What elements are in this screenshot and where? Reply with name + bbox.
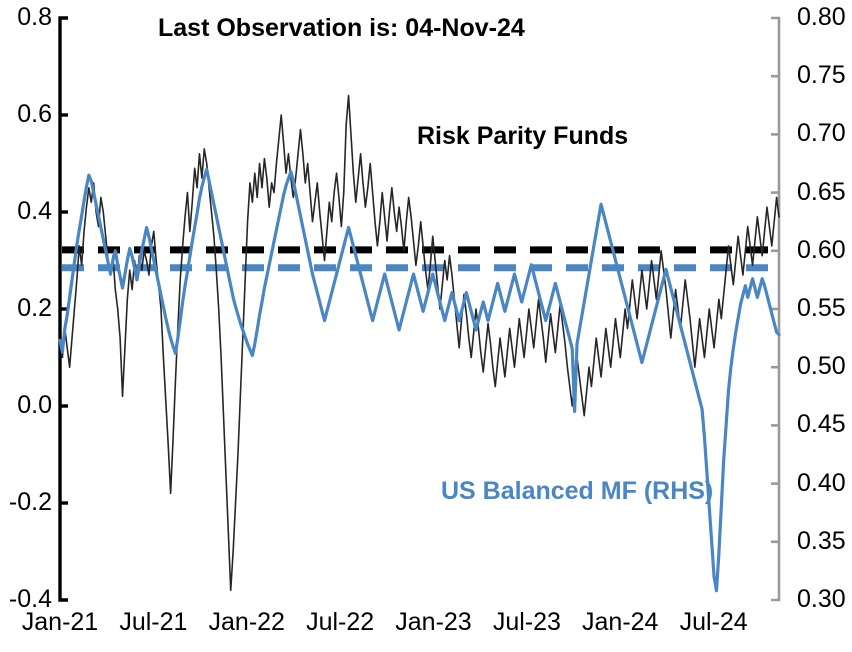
right-axis-tick-label: 0.60	[797, 236, 852, 265]
left-axis-tick-label: 0.0	[0, 391, 52, 420]
right-axis-tick-label: 0.45	[797, 410, 852, 439]
left-axis-tick-label: -0.2	[0, 488, 52, 517]
chart-container: Last Observation is: 04-Nov-24 Risk Pari…	[0, 0, 852, 652]
left-axis-tick-label: 0.2	[0, 294, 52, 323]
risk-parity-funds-line	[60, 96, 779, 591]
left-axis-tick-label: 0.4	[0, 197, 52, 226]
right-axis-tick-label: 0.35	[797, 527, 852, 556]
axes	[60, 18, 779, 600]
left-axis-tick-label: 0.6	[0, 100, 52, 129]
right-axis-tick-label: 0.80	[797, 3, 852, 32]
x-axis-tick-label: Jul-24	[654, 608, 774, 637]
right-axis-tick-label: 0.30	[797, 585, 852, 614]
left-axis-tick-label: 0.8	[0, 3, 52, 32]
reference-lines	[62, 250, 777, 268]
right-axis-tick-label: 0.50	[797, 352, 852, 381]
right-axis-tick-label: 0.70	[797, 119, 852, 148]
right-axis-tick-label: 0.65	[797, 178, 852, 207]
data-series	[60, 96, 779, 591]
chart-plot-area	[0, 0, 852, 652]
right-axis-tick-label: 0.40	[797, 469, 852, 498]
right-axis-tick-label: 0.55	[797, 294, 852, 323]
right-axis-tick-label: 0.75	[797, 61, 852, 90]
